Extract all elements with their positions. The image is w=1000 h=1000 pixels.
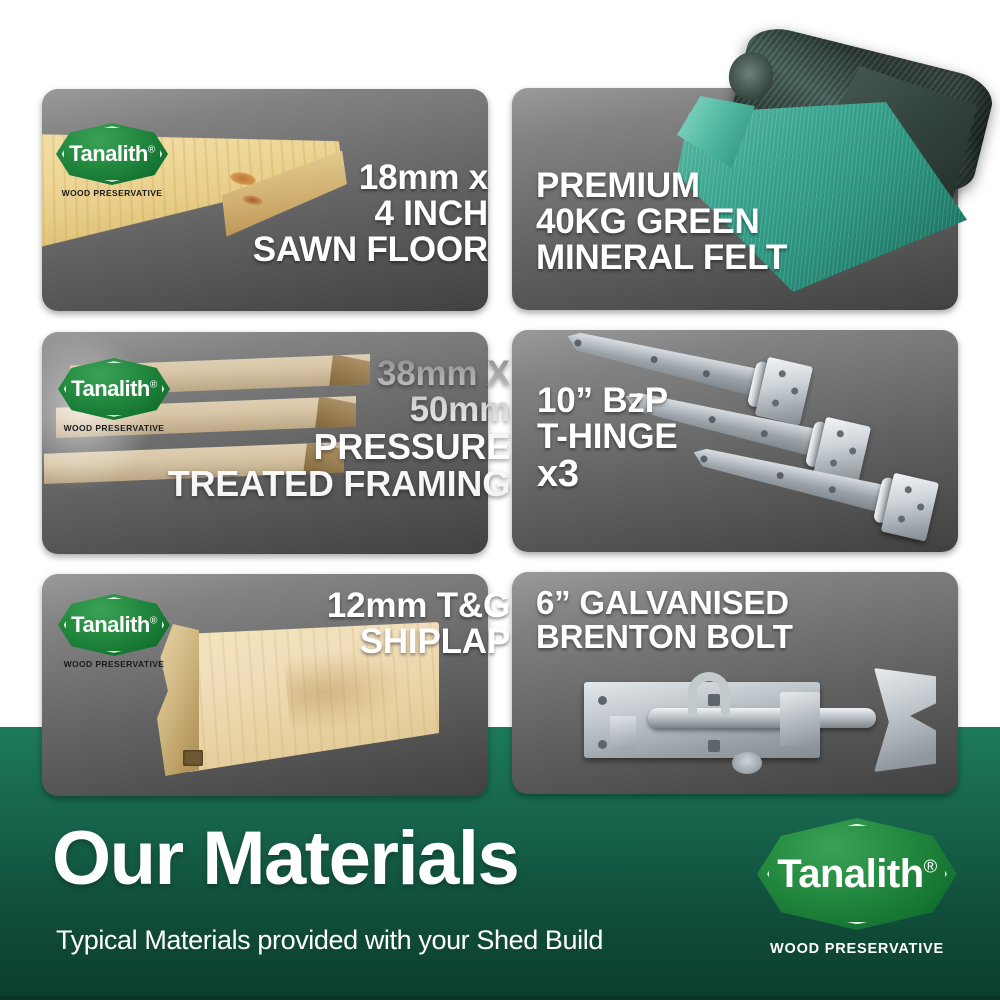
card-sawn-floor-surface <box>42 89 488 311</box>
card-tg-shiplap[interactable] <box>42 574 488 796</box>
treated-timber-batten-image <box>50 338 380 548</box>
shiplap-board-image <box>157 622 447 792</box>
green-mineral-felt-image <box>677 50 997 320</box>
galvanised-brenton-bolt-image <box>584 664 944 790</box>
galvanised-t-hinge-image <box>564 334 964 550</box>
footer-subheadline: Typical Materials provided with your She… <box>56 925 603 956</box>
card-t-hinge[interactable] <box>512 330 958 552</box>
materials-infographic: Tanalith® WOOD PRESERVATIVE 18mm x 4 INC… <box>0 0 1000 1000</box>
card-brenton-bolt[interactable] <box>512 572 958 794</box>
card-brenton-bolt-surface <box>512 572 958 794</box>
timber-board-image <box>42 92 378 309</box>
card-framing-surface <box>42 332 488 554</box>
footer-headline: Our Materials <box>52 821 518 897</box>
card-mineral-felt[interactable] <box>512 88 958 310</box>
card-pressure-treated-framing[interactable] <box>42 332 488 554</box>
card-sawn-floor[interactable] <box>42 89 488 311</box>
